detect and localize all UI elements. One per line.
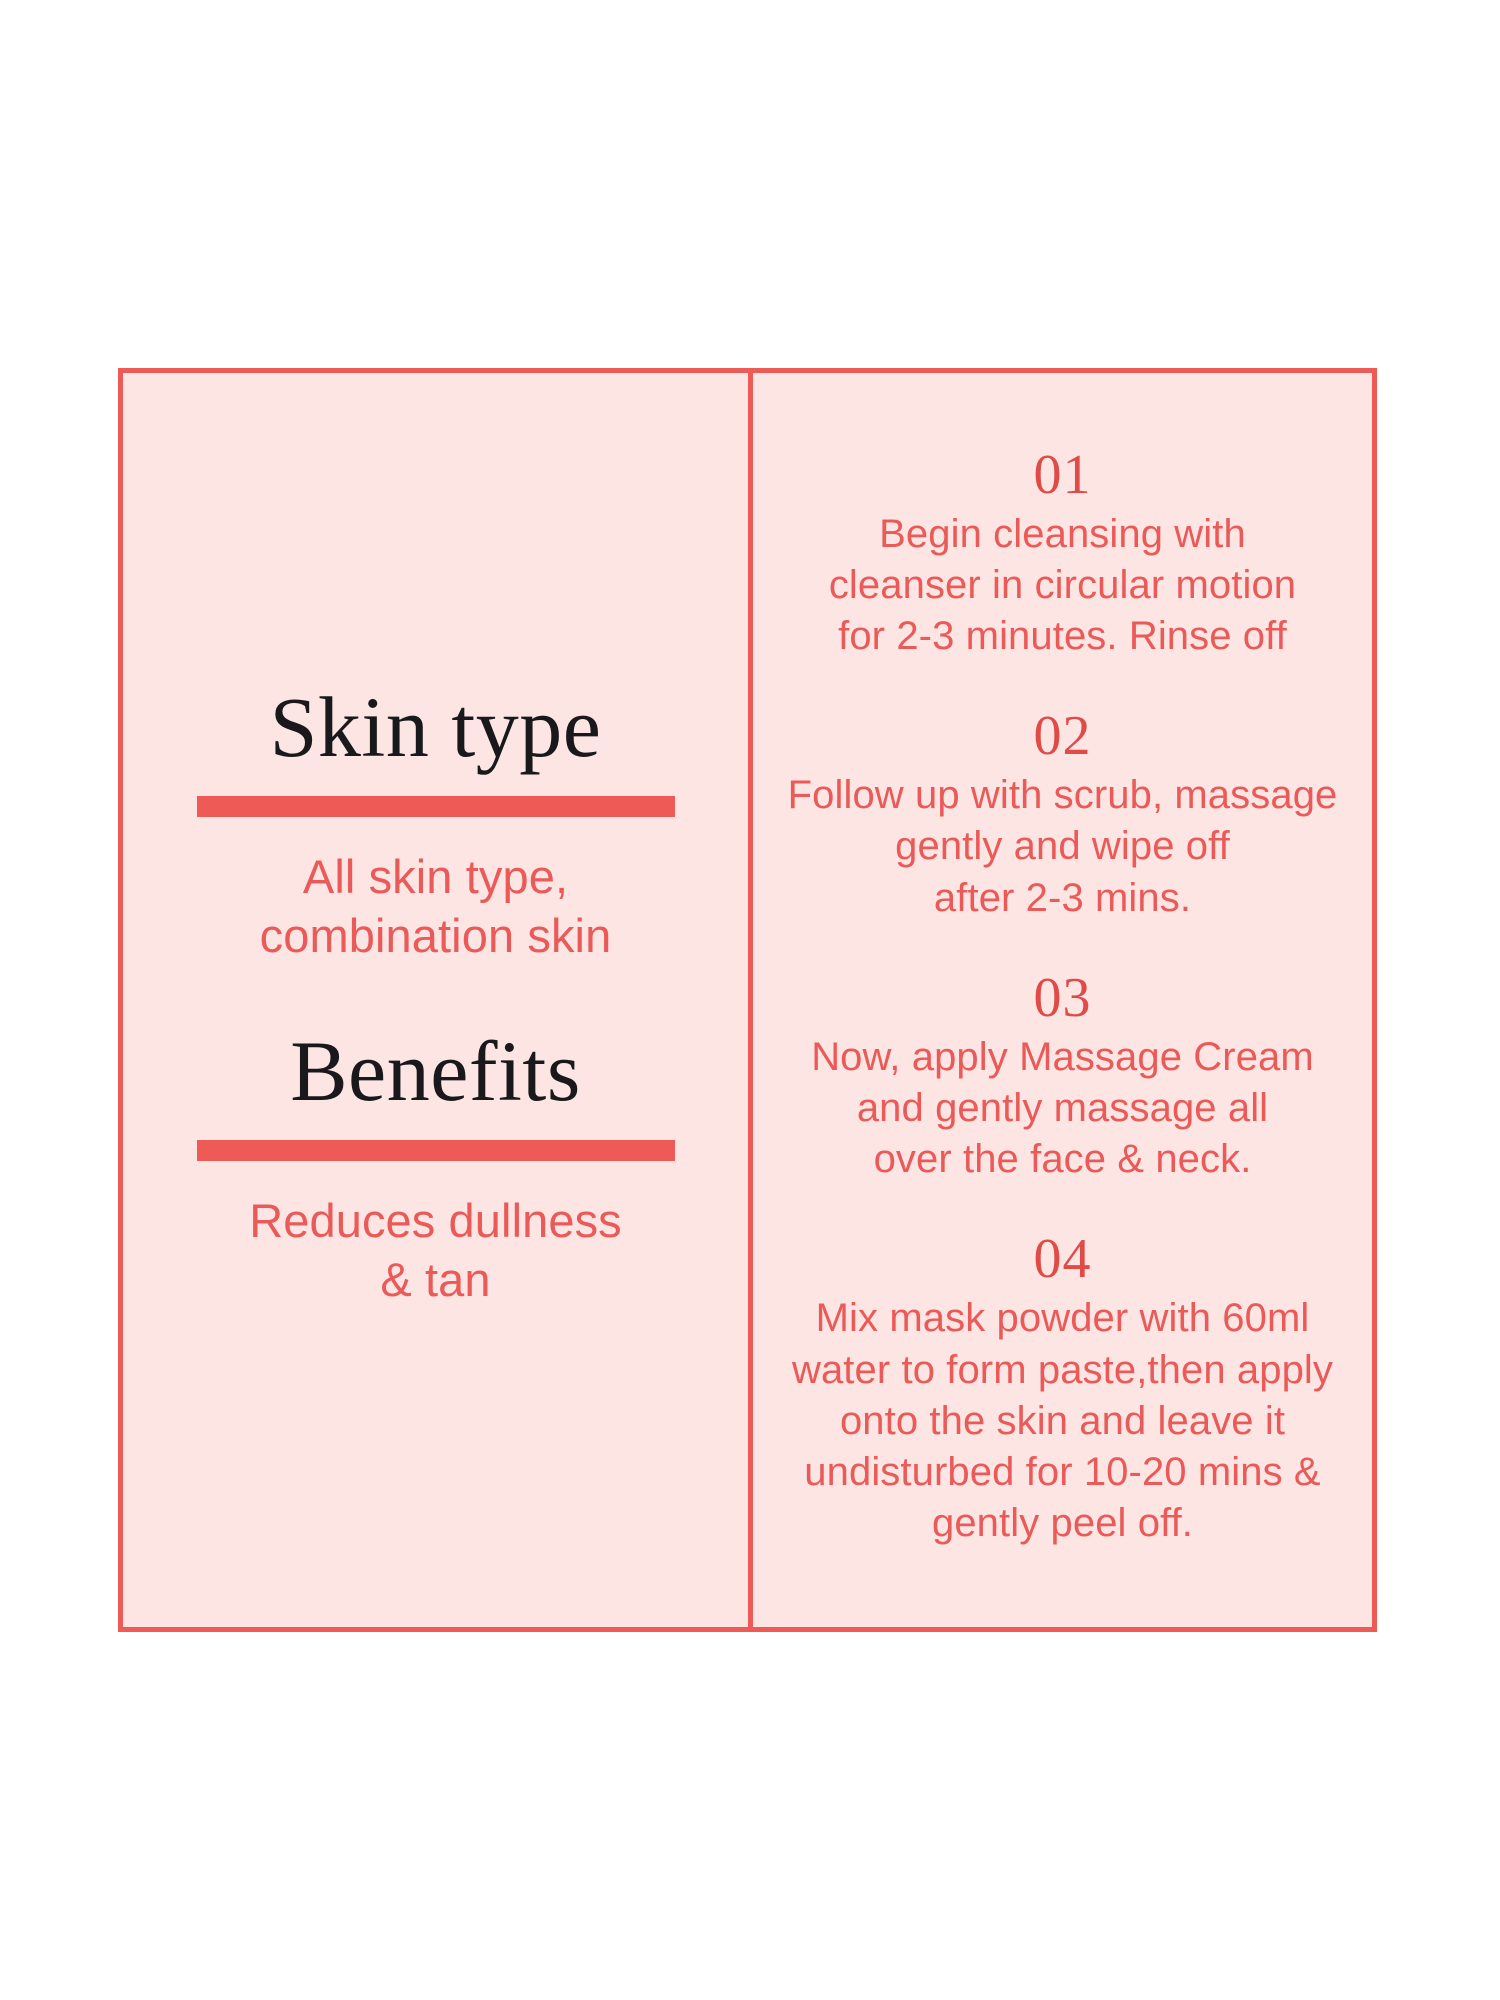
section-spacer [151, 966, 720, 1028]
skin-type-heading: Skin type [151, 684, 720, 772]
step-number-04: 04 [775, 1231, 1350, 1287]
step-number-02: 02 [775, 708, 1350, 764]
step-text-02: Follow up with scrub, massage gently and… [775, 770, 1350, 924]
step-number-03: 03 [775, 970, 1350, 1026]
step-number-01: 01 [775, 447, 1350, 503]
benefits-body-text: Reduces dullness & tan [151, 1191, 720, 1310]
left-panel-content: Skin type All skin type, combination ski… [123, 684, 748, 1310]
step-text-03: Now, apply Massage Cream and gently mass… [775, 1032, 1350, 1186]
step-item: 04 Mix mask powder with 60ml water to fo… [775, 1231, 1350, 1549]
product-info-card: Skin type All skin type, combination ski… [118, 368, 1377, 1632]
step-item: 03 Now, apply Massage Cream and gently m… [775, 970, 1350, 1186]
how-to-use-steps-panel: 01 Begin cleansing with cleanser in circ… [748, 368, 1377, 1632]
step-item: 01 Begin cleansing with cleanser in circ… [775, 447, 1350, 663]
skin-type-benefits-panel: Skin type All skin type, combination ski… [118, 368, 753, 1632]
benefits-divider-rule [197, 1140, 675, 1161]
skin-type-divider-rule [197, 796, 675, 817]
step-text-04: Mix mask powder with 60ml water to form … [775, 1293, 1350, 1549]
benefits-heading: Benefits [151, 1028, 720, 1116]
step-item: 02 Follow up with scrub, massage gently … [775, 708, 1350, 924]
skin-type-body-text: All skin type, combination skin [151, 847, 720, 966]
step-text-01: Begin cleansing with cleanser in circula… [775, 509, 1350, 663]
steps-list: 01 Begin cleansing with cleanser in circ… [753, 447, 1372, 1550]
